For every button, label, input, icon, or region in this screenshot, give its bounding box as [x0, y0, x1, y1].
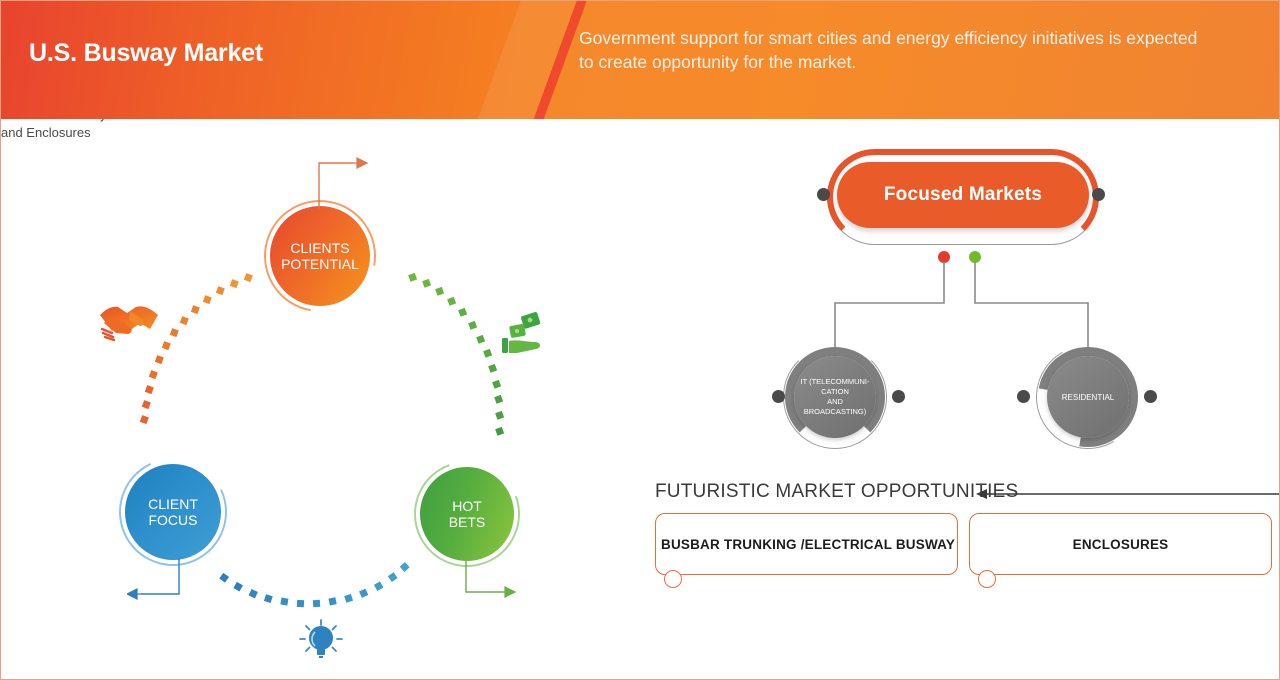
- it-circle-dot-left: [772, 390, 785, 403]
- opportunity-box-busbar-label: BUSBAR TRUNKING /ELECTRICAL BUSWAY: [661, 537, 955, 552]
- node-clients-potential[interactable]: CLIENTS POTENTIAL: [270, 206, 370, 306]
- dotted-arc-blue: [219, 562, 409, 607]
- opportunity-box-enclosures-label: ENCLOSURES: [1073, 537, 1169, 552]
- residential-label: RESIDENTIAL: [1062, 393, 1114, 402]
- opportunity-marker-enclosures: [978, 570, 996, 588]
- page-title: U.S. Busway Market: [29, 39, 263, 68]
- header-subtitle: Government support for smart cities and …: [579, 26, 1199, 74]
- node-hot-bets[interactable]: HOT BETS: [420, 467, 514, 561]
- hot-bets-line2: BETS: [449, 514, 486, 530]
- clients-potential-line2: POTENTIAL: [281, 256, 359, 272]
- busbar-line3: and Enclosures: [1, 124, 146, 142]
- opportunity-marker-busbar: [664, 570, 682, 588]
- client-focus-line2: FOCUS: [148, 512, 198, 528]
- focused-markets-label: Focused Markets: [884, 184, 1042, 206]
- client-focus-line1: CLIENT: [148, 496, 198, 512]
- it-label-line1: IT (TELECOMMUNI-: [800, 377, 869, 387]
- market-circle-residential[interactable]: RESIDENTIAL: [1047, 356, 1129, 438]
- clients-potential-line1: CLIENTS: [281, 240, 359, 256]
- focused-markets-pill[interactable]: Focused Markets: [837, 162, 1089, 228]
- focused-markets-dot-left: [817, 188, 830, 201]
- futuristic-arrow: [976, 483, 1280, 507]
- residential-circle-dot-right: [1144, 390, 1157, 403]
- residential-circle-dot-left: [1017, 390, 1030, 403]
- node-client-focus[interactable]: CLIENT FOCUS: [125, 464, 221, 560]
- futuristic-opportunities-title: FUTURISTIC MARKET OPPORTUNITIES: [655, 481, 1018, 503]
- it-label-line2: CATION: [800, 387, 869, 397]
- money-hand-icon: [501, 311, 549, 357]
- header-banner: U.S. Busway Market Government support fo…: [1, 1, 1280, 119]
- slide-canvas: U.S. Busway Market Government support fo…: [0, 0, 1280, 680]
- connector-busbar: [459, 559, 539, 629]
- market-circle-it[interactable]: IT (TELECOMMUNI- CATION AND BROADCASTING…: [794, 356, 876, 438]
- it-circle-dot-right: [892, 390, 905, 403]
- hot-bets-line1: HOT: [449, 498, 486, 514]
- focused-markets-dot-right: [1092, 188, 1105, 201]
- handshake-icon: [96, 293, 164, 349]
- lightbulb-icon: [297, 618, 345, 664]
- it-label-line3: AND: [800, 397, 869, 407]
- it-label-line4: BROADCASTING): [800, 407, 869, 417]
- connector-hardware: [311, 151, 471, 221]
- dotted-arc-green: [408, 273, 504, 436]
- opportunity-box-enclosures[interactable]: ENCLOSURES: [969, 513, 1272, 575]
- connector-it-residential: [127, 556, 197, 626]
- opportunity-box-busbar[interactable]: BUSBAR TRUNKING /ELECTRICAL BUSWAY: [655, 513, 958, 575]
